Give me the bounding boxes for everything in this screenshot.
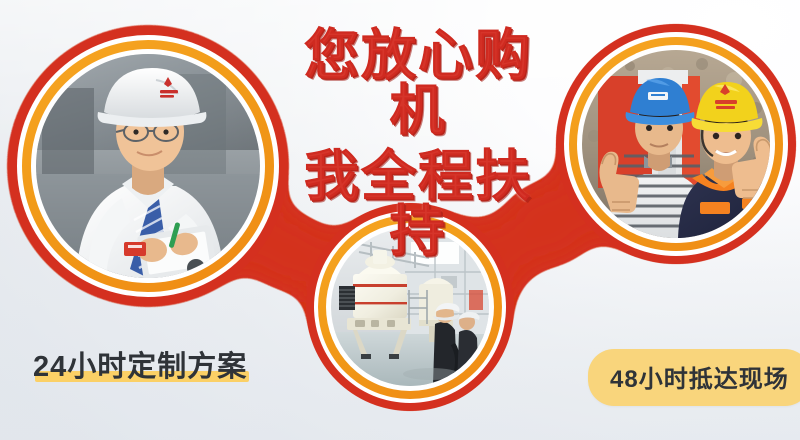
- caption-left: 24小时定制方案: [33, 343, 247, 385]
- photo-node-right: [556, 24, 796, 264]
- caption-left-text: 24小时定制方案: [33, 343, 247, 385]
- headline-line-2: 我全程扶持: [283, 149, 553, 259]
- headline-line-1: 您放心购机: [283, 28, 553, 138]
- photo-node-left: [8, 26, 288, 306]
- headline-block: 您放心购机 我全程扶持: [283, 28, 553, 259]
- caption-right-pill: 48小时抵达现场: [588, 349, 800, 406]
- engineer-portrait-illustration: [36, 54, 260, 278]
- photo-engineer-portrait: [36, 54, 260, 278]
- caption-right-text: 48小时抵达现场: [610, 359, 789, 394]
- workers-thumbs-up-illustration: [582, 50, 770, 238]
- photo-workers-thumbs-up: [582, 50, 770, 238]
- promo-banner: 您放心购机 我全程扶持 24小时定制方案 48小时抵达现场: [0, 0, 800, 440]
